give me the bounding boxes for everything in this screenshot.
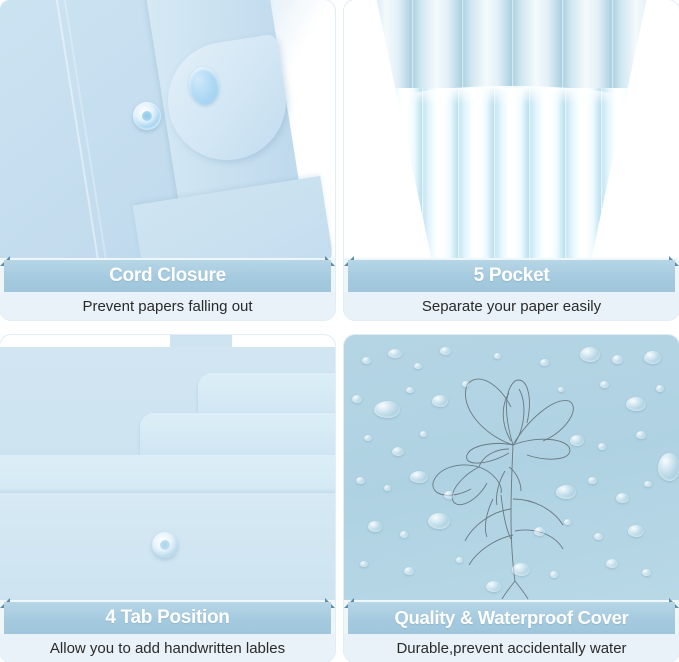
feature-title: Quality & Waterproof Cover: [394, 607, 628, 629]
feature-title: 5 Pocket: [474, 265, 550, 287]
product-photo-five-pocket: [344, 0, 679, 258]
feature-title: Cord Closure: [109, 265, 226, 287]
feature-caption-area: Allow you to add handwritten lables: [0, 634, 335, 662]
eyelet-button-small: [133, 102, 161, 130]
feature-ribbon: 4 Tab Position: [0, 598, 335, 634]
feature-card-four-tab-position: 4 Tab Position Allow you to add handwrit…: [0, 335, 335, 662]
feature-ribbon: Quality & Waterproof Cover: [344, 598, 679, 634]
feature-card-cord-closure: Cord Closure Prevent papers falling out: [0, 0, 335, 320]
snap-grommet-icon: [152, 532, 178, 558]
feature-caption-area: Prevent papers falling out: [0, 292, 335, 320]
feature-grid: Cord Closure Prevent papers falling out: [0, 0, 679, 662]
product-photo-waterproof-cover: [344, 335, 679, 600]
feature-card-waterproof-cover: Quality & Waterproof Cover Durable,preve…: [344, 335, 679, 662]
feature-caption: Durable,prevent accidentally water: [396, 640, 626, 657]
feature-ribbon: Cord Closure: [0, 256, 335, 292]
product-photo-cord-closure: [0, 0, 335, 258]
feature-caption: Prevent papers falling out: [82, 298, 252, 315]
product-photo-tab-position: [0, 335, 335, 600]
feature-caption-area: Separate your paper easily: [344, 292, 679, 320]
feature-card-five-pocket: 5 Pocket Separate your paper easily: [344, 0, 679, 320]
feature-caption-area: Durable,prevent accidentally water: [344, 634, 679, 662]
feature-ribbon: 5 Pocket: [344, 256, 679, 292]
feature-title: 4 Tab Position: [105, 607, 229, 629]
feature-caption: Allow you to add handwritten lables: [50, 640, 285, 657]
feature-caption: Separate your paper easily: [422, 298, 601, 315]
